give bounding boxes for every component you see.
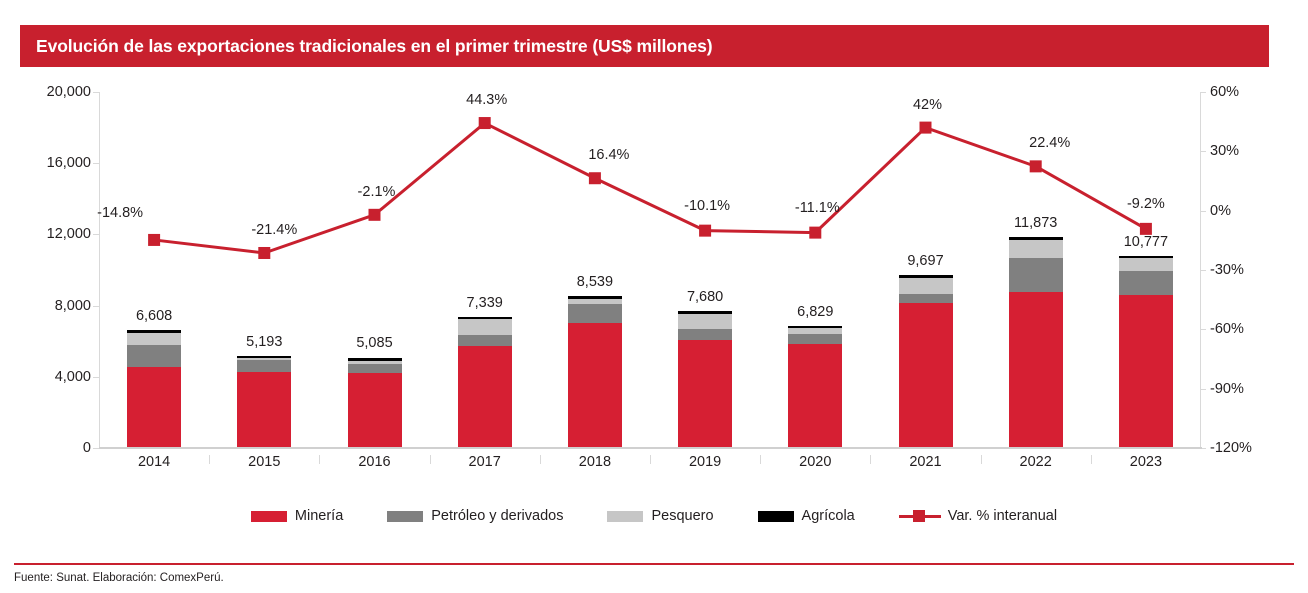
y-axis-left-labels: 04,0008,00012,00016,00020,000 [20,92,92,448]
y-axis-right-tick-label: 0% [1210,204,1231,219]
bar-segment-petroleo[interactable] [678,329,732,340]
var-percent-label: -9.2% [1091,197,1201,212]
bar-stack[interactable] [788,326,842,448]
bar-segment-pesquero[interactable] [127,333,181,345]
bar-segment-petroleo[interactable] [348,364,402,373]
y-axis-right-tick [1200,389,1206,390]
bar-segment-petroleo[interactable] [458,335,512,346]
bar-segment-mineria[interactable] [899,303,953,448]
legend-item[interactable]: Pesquero [607,508,713,524]
bar-total-label: 10,777 [1097,235,1195,250]
x-axis-tick-label: 2017 [430,455,540,470]
chart-page: Evolución de las exportaciones tradicion… [0,0,1308,593]
legend-item[interactable]: Minería [251,508,343,524]
x-axis-tick [319,455,320,464]
y-axis-left-tick-label: 12,000 [47,227,91,242]
x-axis-tick [650,455,651,464]
y-axis-right-tick-label: -120% [1210,441,1252,456]
legend-item-label: Minería [295,508,343,524]
var-percent-label: -21.4% [219,223,329,238]
bar-total-label: 6,829 [766,305,864,320]
bar-group[interactable]: 6,829 [788,92,842,448]
legend-item[interactable]: Agrícola [758,508,855,524]
plot-area: 6,6085,1935,0857,3398,5397,6806,8299,697… [99,92,1201,448]
bar-stack[interactable] [1119,256,1173,448]
bar-stack[interactable] [127,330,181,448]
y-axis-right-tick-label: 60% [1210,85,1239,100]
var-percent-label: 16.4% [554,148,664,163]
x-axis-tick-label: 2020 [760,455,870,470]
y-axis-left-tick-label: 8,000 [55,299,91,314]
bar-total-label: 5,085 [326,336,424,351]
x-axis-tick-label: 2022 [981,455,1091,470]
y-axis-left-tick-label: 4,000 [55,370,91,385]
bar-segment-petroleo[interactable] [1009,258,1063,292]
bar-segment-pesquero[interactable] [899,278,953,294]
bar-segment-mineria[interactable] [678,340,732,448]
bar-segment-mineria[interactable] [1119,295,1173,448]
y-axis-left-tick [93,234,99,235]
bar-group[interactable]: 5,193 [237,92,291,448]
y-axis-right-tick-label: -30% [1210,263,1244,278]
x-axis-tick-label: 2019 [650,455,760,470]
bar-total-label: 7,339 [436,296,534,311]
bar-segment-pesquero[interactable] [678,314,732,329]
bar-stack[interactable] [678,311,732,448]
bar-segment-petroleo[interactable] [899,294,953,304]
bar-segment-pesquero[interactable] [1009,240,1063,258]
y-axis-right-labels: -120%-90%-60%-30%0%30%60% [1210,92,1300,448]
bar-segment-petroleo[interactable] [568,304,622,322]
bar-group[interactable]: 6,608 [127,92,181,448]
bar-segment-mineria[interactable] [568,323,622,448]
x-axis-tick [209,455,210,464]
y-axis-left-tick-label: 0 [83,441,91,456]
legend-line-marker-var [899,509,941,523]
bar-segment-mineria[interactable] [1009,292,1063,448]
bar-total-label: 6,608 [105,309,203,324]
legend-swatch-mineria [251,511,287,522]
y-axis-right-tick [1200,329,1206,330]
var-percent-label: 42% [873,98,983,113]
var-percent-label: -10.1% [652,199,762,214]
x-axis-tick [540,455,541,464]
bar-segment-petroleo[interactable] [127,345,181,367]
footer-divider [14,563,1294,565]
legend-item-label: Pesquero [651,508,713,524]
bar-segment-petroleo[interactable] [237,360,291,372]
y-axis-right-tick [1200,211,1206,212]
page-title: Evolución de las exportaciones tradicion… [36,36,712,57]
y-axis-right-tick-label: -90% [1210,382,1244,397]
legend-item-label: Petróleo y derivados [431,508,563,524]
x-axis-tick-label: 2018 [540,455,650,470]
x-axis-baseline [99,447,1202,449]
var-percent-label: -11.1% [762,201,872,216]
x-axis-tick [430,455,431,464]
var-percent-label: 22.4% [995,136,1105,151]
x-axis-tick [981,455,982,464]
y-axis-right-tick [1200,270,1206,271]
legend-swatch-agricola [758,511,794,522]
var-percent-label: -14.8% [65,206,175,221]
legend-item-label: Var. % interanual [948,508,1057,524]
bar-stack[interactable] [1009,237,1063,448]
x-axis-labels: 2014201520162017201820192020202120222023 [99,455,1201,481]
bar-segment-petroleo[interactable] [788,334,842,344]
bar-total-label: 8,539 [546,275,644,290]
bar-segment-pesquero[interactable] [1119,258,1173,271]
bar-stack[interactable] [568,296,622,448]
bar-stack[interactable] [348,358,402,448]
bar-segment-mineria[interactable] [788,344,842,448]
y-axis-left-tick-label: 16,000 [47,156,91,171]
y-axis-left-tick-label: 20,000 [47,85,91,100]
bar-stack[interactable] [237,356,291,448]
bar-total-label: 9,697 [877,254,975,269]
y-axis-left-tick [93,92,99,93]
bar-group[interactable]: 7,680 [678,92,732,448]
bar-stack[interactable] [899,275,953,448]
bar-total-label: 7,680 [656,290,754,305]
x-axis-tick-label: 2015 [209,455,319,470]
y-axis-right-tick-label: -60% [1210,322,1244,337]
bar-stack[interactable] [458,317,512,448]
bar-total-label: 11,873 [987,216,1085,231]
source-note: Fuente: Sunat. Elaboración: ComexPerú. [14,572,224,584]
y-axis-right-tick [1200,151,1206,152]
chart-legend: MineríaPetróleo y derivadosPesqueroAgríc… [0,508,1308,524]
legend-item[interactable]: Petróleo y derivados [387,508,563,524]
var-percent-label: 44.3% [432,93,542,108]
bar-segment-mineria[interactable] [348,373,402,448]
legend-swatch-pesquero [607,511,643,522]
var-percent-label: -2.1% [322,185,432,200]
x-axis-tick-label: 2021 [871,455,981,470]
bar-total-label: 5,193 [215,335,313,350]
bar-segment-mineria[interactable] [458,346,512,448]
bar-segment-petroleo[interactable] [1119,271,1173,294]
x-axis-tick-label: 2014 [99,455,209,470]
x-axis-tick [1091,455,1092,464]
bar-segment-mineria[interactable] [127,367,181,448]
legend-item[interactable]: Var. % interanual [899,508,1057,524]
bar-segment-pesquero[interactable] [458,319,512,335]
bar-group[interactable]: 8,539 [568,92,622,448]
y-axis-left-tick [93,306,99,307]
bar-segment-mineria[interactable] [237,372,291,448]
y-axis-right-tick [1200,92,1206,93]
legend-item-label: Agrícola [802,508,855,524]
y-axis-left-tick [93,377,99,378]
bar-group[interactable]: 5,085 [348,92,402,448]
y-axis-left-line [99,92,100,448]
x-axis-tick-label: 2016 [320,455,430,470]
y-axis-left-tick [93,163,99,164]
x-axis-tick [760,455,761,464]
x-axis-tick-label: 2023 [1091,455,1201,470]
bar-group[interactable]: 7,339 [458,92,512,448]
x-axis-tick [870,455,871,464]
bar-group[interactable]: 9,697 [899,92,953,448]
y-axis-right-tick-label: 30% [1210,144,1239,159]
chart-header-banner: Evolución de las exportaciones tradicion… [20,25,1269,67]
legend-swatch-petroleo [387,511,423,522]
bar-group[interactable]: 10,777 [1119,92,1173,448]
